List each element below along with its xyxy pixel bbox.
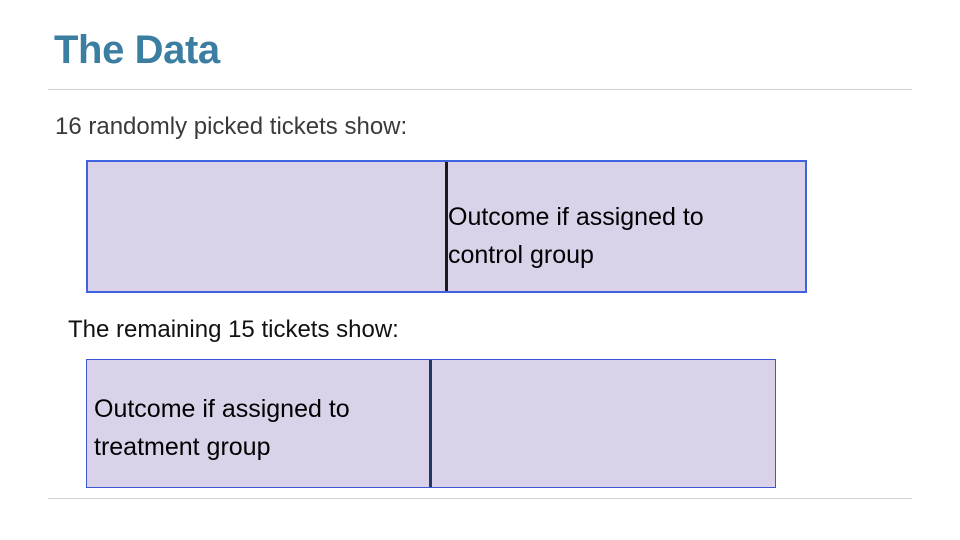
page-title: The Data (54, 28, 220, 72)
ticket-box-treatment: Outcome if assigned to treatment group (86, 359, 776, 488)
first-sample-label: 16 randomly picked tickets show: (55, 113, 407, 142)
ticket-label-treatment: Outcome if assigned to treatment group (94, 390, 434, 466)
ticket-label-control: Outcome if assigned to control group (448, 198, 798, 274)
footer-divider-rule (48, 498, 912, 499)
second-sample-label: The remaining 15 tickets show: (68, 316, 399, 345)
ticket-box-control: Outcome if assigned to control group (86, 160, 807, 293)
slide-canvas: The Data 16 randomly picked tickets show… (0, 0, 960, 540)
title-divider-rule (48, 89, 912, 90)
